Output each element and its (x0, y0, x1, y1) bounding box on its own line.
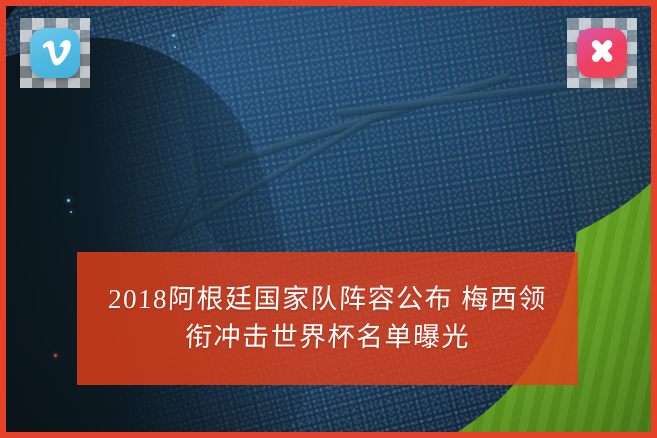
stadium-light-speck (54, 354, 57, 357)
caption-line-2: 衔冲击世界杯名单曝光 (184, 322, 470, 354)
xmind-x-icon (585, 36, 619, 70)
stadium-light-speck (172, 34, 175, 37)
vimeo-v-icon (38, 38, 72, 68)
vimeo-tile[interactable] (30, 28, 80, 78)
stadium-light-speck (67, 199, 70, 202)
xmind-app-icon[interactable] (567, 18, 637, 88)
caption-line-1: 2018阿根廷国家队阵容公布 梅西领 (108, 284, 548, 316)
xmind-tile[interactable] (577, 28, 627, 78)
vimeo-app-icon[interactable] (20, 18, 90, 88)
stadium-light-speck (174, 46, 176, 48)
banner-image: 2018阿根廷国家队阵容公布 梅西领 衔冲击世界杯名单曝光 (0, 0, 657, 438)
caption-overlay: 2018阿根廷国家队阵容公布 梅西领 衔冲击世界杯名单曝光 (77, 252, 578, 385)
stadium-light-speck (70, 211, 72, 213)
